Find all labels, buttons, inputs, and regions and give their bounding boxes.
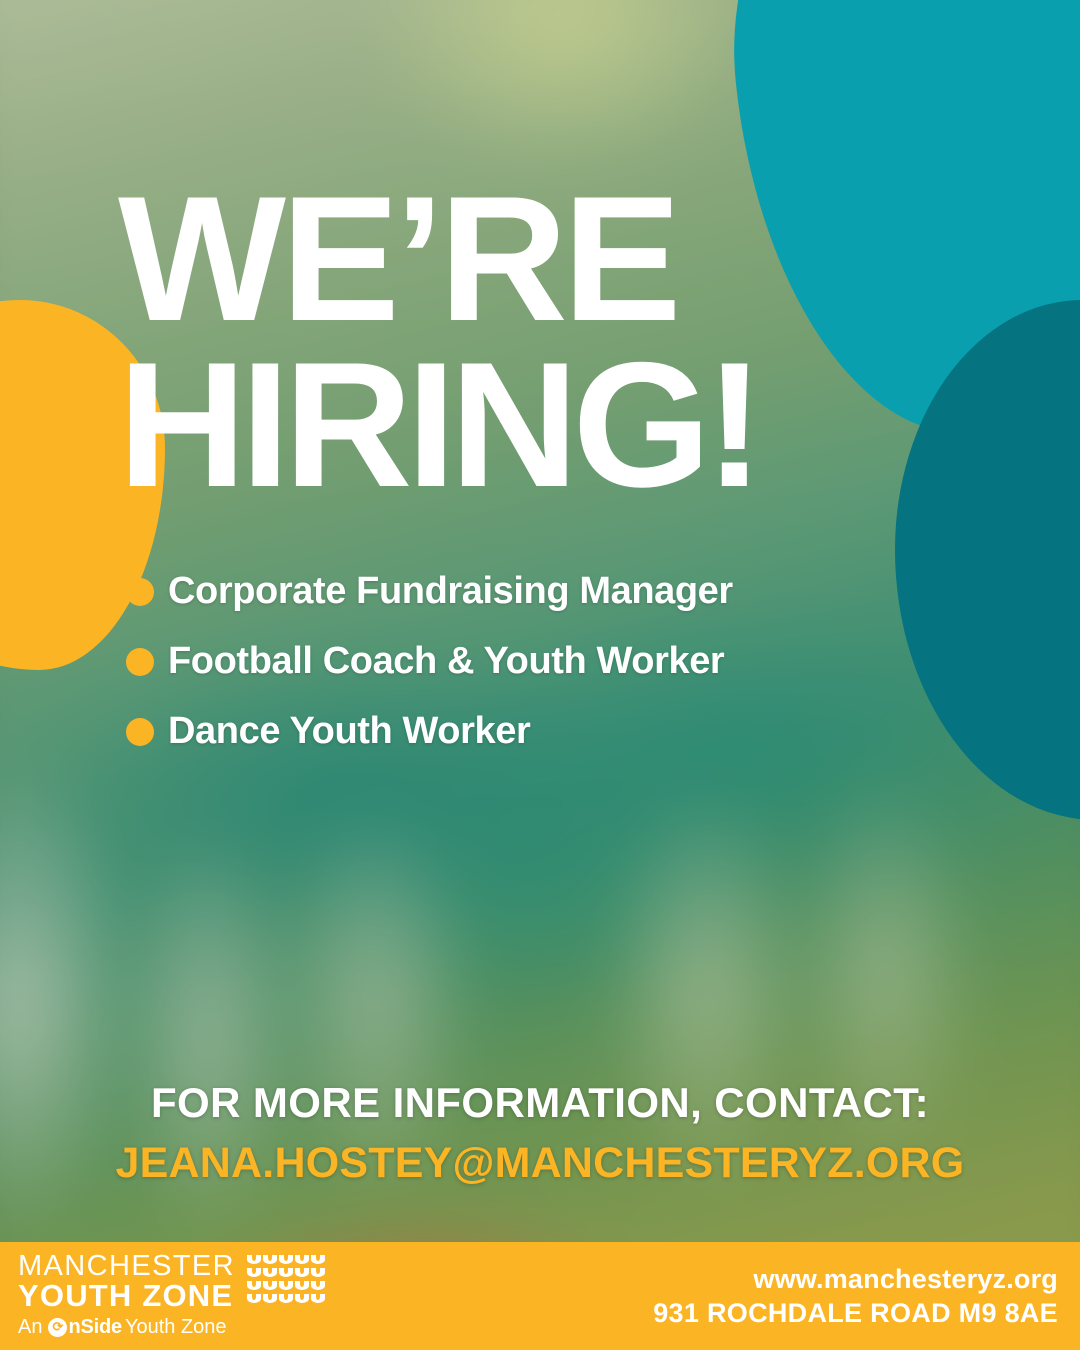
recruitment-poster: WE’RE HIRING! Corporate Fundraising Mana… — [0, 0, 1080, 1350]
website-url[interactable]: www.manchesteryz.org — [653, 1264, 1058, 1294]
bullet-dot-icon — [126, 718, 154, 746]
list-item: Football Coach & Youth Worker — [126, 640, 733, 683]
wing-pattern-icon — [247, 1255, 325, 1305]
bullet-dot-icon — [126, 648, 154, 676]
job-title: Corporate Fundraising Manager — [168, 570, 733, 613]
tagline-suffix: Youth Zone — [125, 1316, 227, 1339]
brand-line-1: MANCHESTER — [18, 1253, 235, 1280]
brand-line-2: YOUTH ZONE — [18, 1281, 235, 1310]
contact-block: FOR MORE INFORMATION, CONTACT: JEANA.HOS… — [0, 1079, 1080, 1188]
tagline-prefix: An — [18, 1316, 42, 1339]
headline-line-2: HIRING! — [118, 342, 758, 508]
job-title: Football Coach & Youth Worker — [168, 640, 724, 683]
headline-line-1: WE’RE — [118, 176, 758, 342]
onside-brand-word: nSide — [68, 1316, 121, 1339]
brand-wordmark: MANCHESTER YOUTH ZONE — [18, 1253, 235, 1309]
brand-top-row: MANCHESTER YOUTH ZONE — [18, 1253, 325, 1309]
bullet-dot-icon — [126, 578, 154, 606]
onside-tagline: An ⟳ nSide Youth Zone — [18, 1316, 325, 1339]
job-title: Dance Youth Worker — [168, 710, 530, 753]
street-address: 931 ROCHDALE ROAD M9 8AE — [653, 1298, 1058, 1328]
headline: WE’RE HIRING! — [118, 176, 758, 509]
list-item: Dance Youth Worker — [126, 710, 733, 753]
footer-bar: MANCHESTER YOUTH ZONE An ⟳ nSide Youth Z… — [0, 1242, 1080, 1350]
contact-email[interactable]: JEANA.HOSTEY@MANCHESTERYZ.ORG — [0, 1139, 1080, 1188]
onside-circle-arrow-icon: ⟳ — [48, 1318, 67, 1337]
poster-content: WE’RE HIRING! Corporate Fundraising Mana… — [0, 0, 1080, 1350]
contact-lead-text: FOR MORE INFORMATION, CONTACT: — [0, 1079, 1080, 1127]
footer-contact-details: www.manchesteryz.org 931 ROCHDALE ROAD M… — [653, 1264, 1058, 1328]
brand-lockup: MANCHESTER YOUTH ZONE An ⟳ nSide Youth Z… — [18, 1253, 325, 1338]
list-item: Corporate Fundraising Manager — [126, 570, 733, 613]
job-list: Corporate Fundraising Manager Football C… — [126, 570, 733, 780]
